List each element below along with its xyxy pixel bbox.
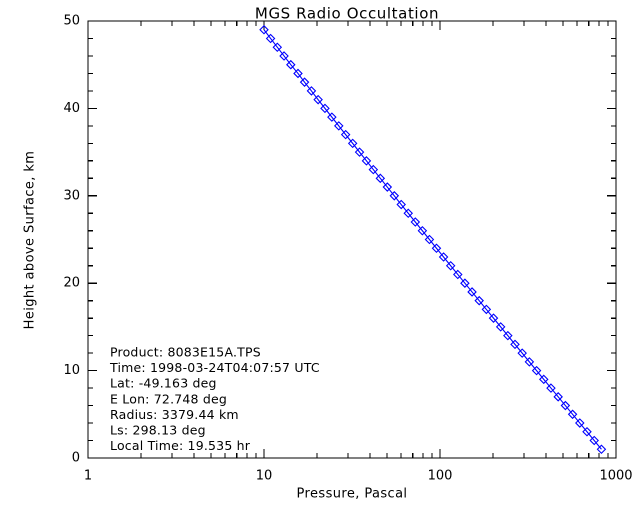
y-tick-label: 50 [63, 14, 80, 29]
x-axis-title: Pressure, Pascal [297, 487, 408, 502]
annotation-line: E Lon: 72.748 deg [110, 391, 227, 406]
chart-background [0, 0, 640, 512]
annotation-line: Lat: -49.163 deg [110, 376, 217, 391]
y-axis-title: Height above Surface, km [23, 151, 38, 330]
x-tick-label: 1000 [599, 469, 632, 484]
y-tick-label: 0 [72, 451, 80, 466]
annotation-line: Radius: 3379.44 km [110, 407, 239, 422]
annotation-line: Product: 8083E15A.TPS [110, 345, 261, 360]
y-tick-label: 40 [63, 101, 80, 116]
y-tick-label: 20 [63, 276, 80, 291]
y-tick-label: 10 [63, 363, 80, 378]
chart-container: MGS Radio Occultation 1101001000 0102030… [0, 0, 640, 512]
x-tick-label: 100 [428, 469, 453, 484]
x-tick-label: 10 [256, 469, 273, 484]
y-tick-label: 30 [63, 188, 80, 203]
chart-title: MGS Radio Occultation [255, 5, 439, 23]
x-tick-label: 1 [84, 469, 92, 484]
annotation-line: Time: 1998-03-24T04:07:57 UTC [109, 360, 320, 375]
annotation-line: Ls: 298.13 deg [110, 423, 206, 438]
annotation-line: Local Time: 19.535 hr [110, 438, 251, 453]
radio-occultation-chart: MGS Radio Occultation 1101001000 0102030… [0, 0, 640, 512]
